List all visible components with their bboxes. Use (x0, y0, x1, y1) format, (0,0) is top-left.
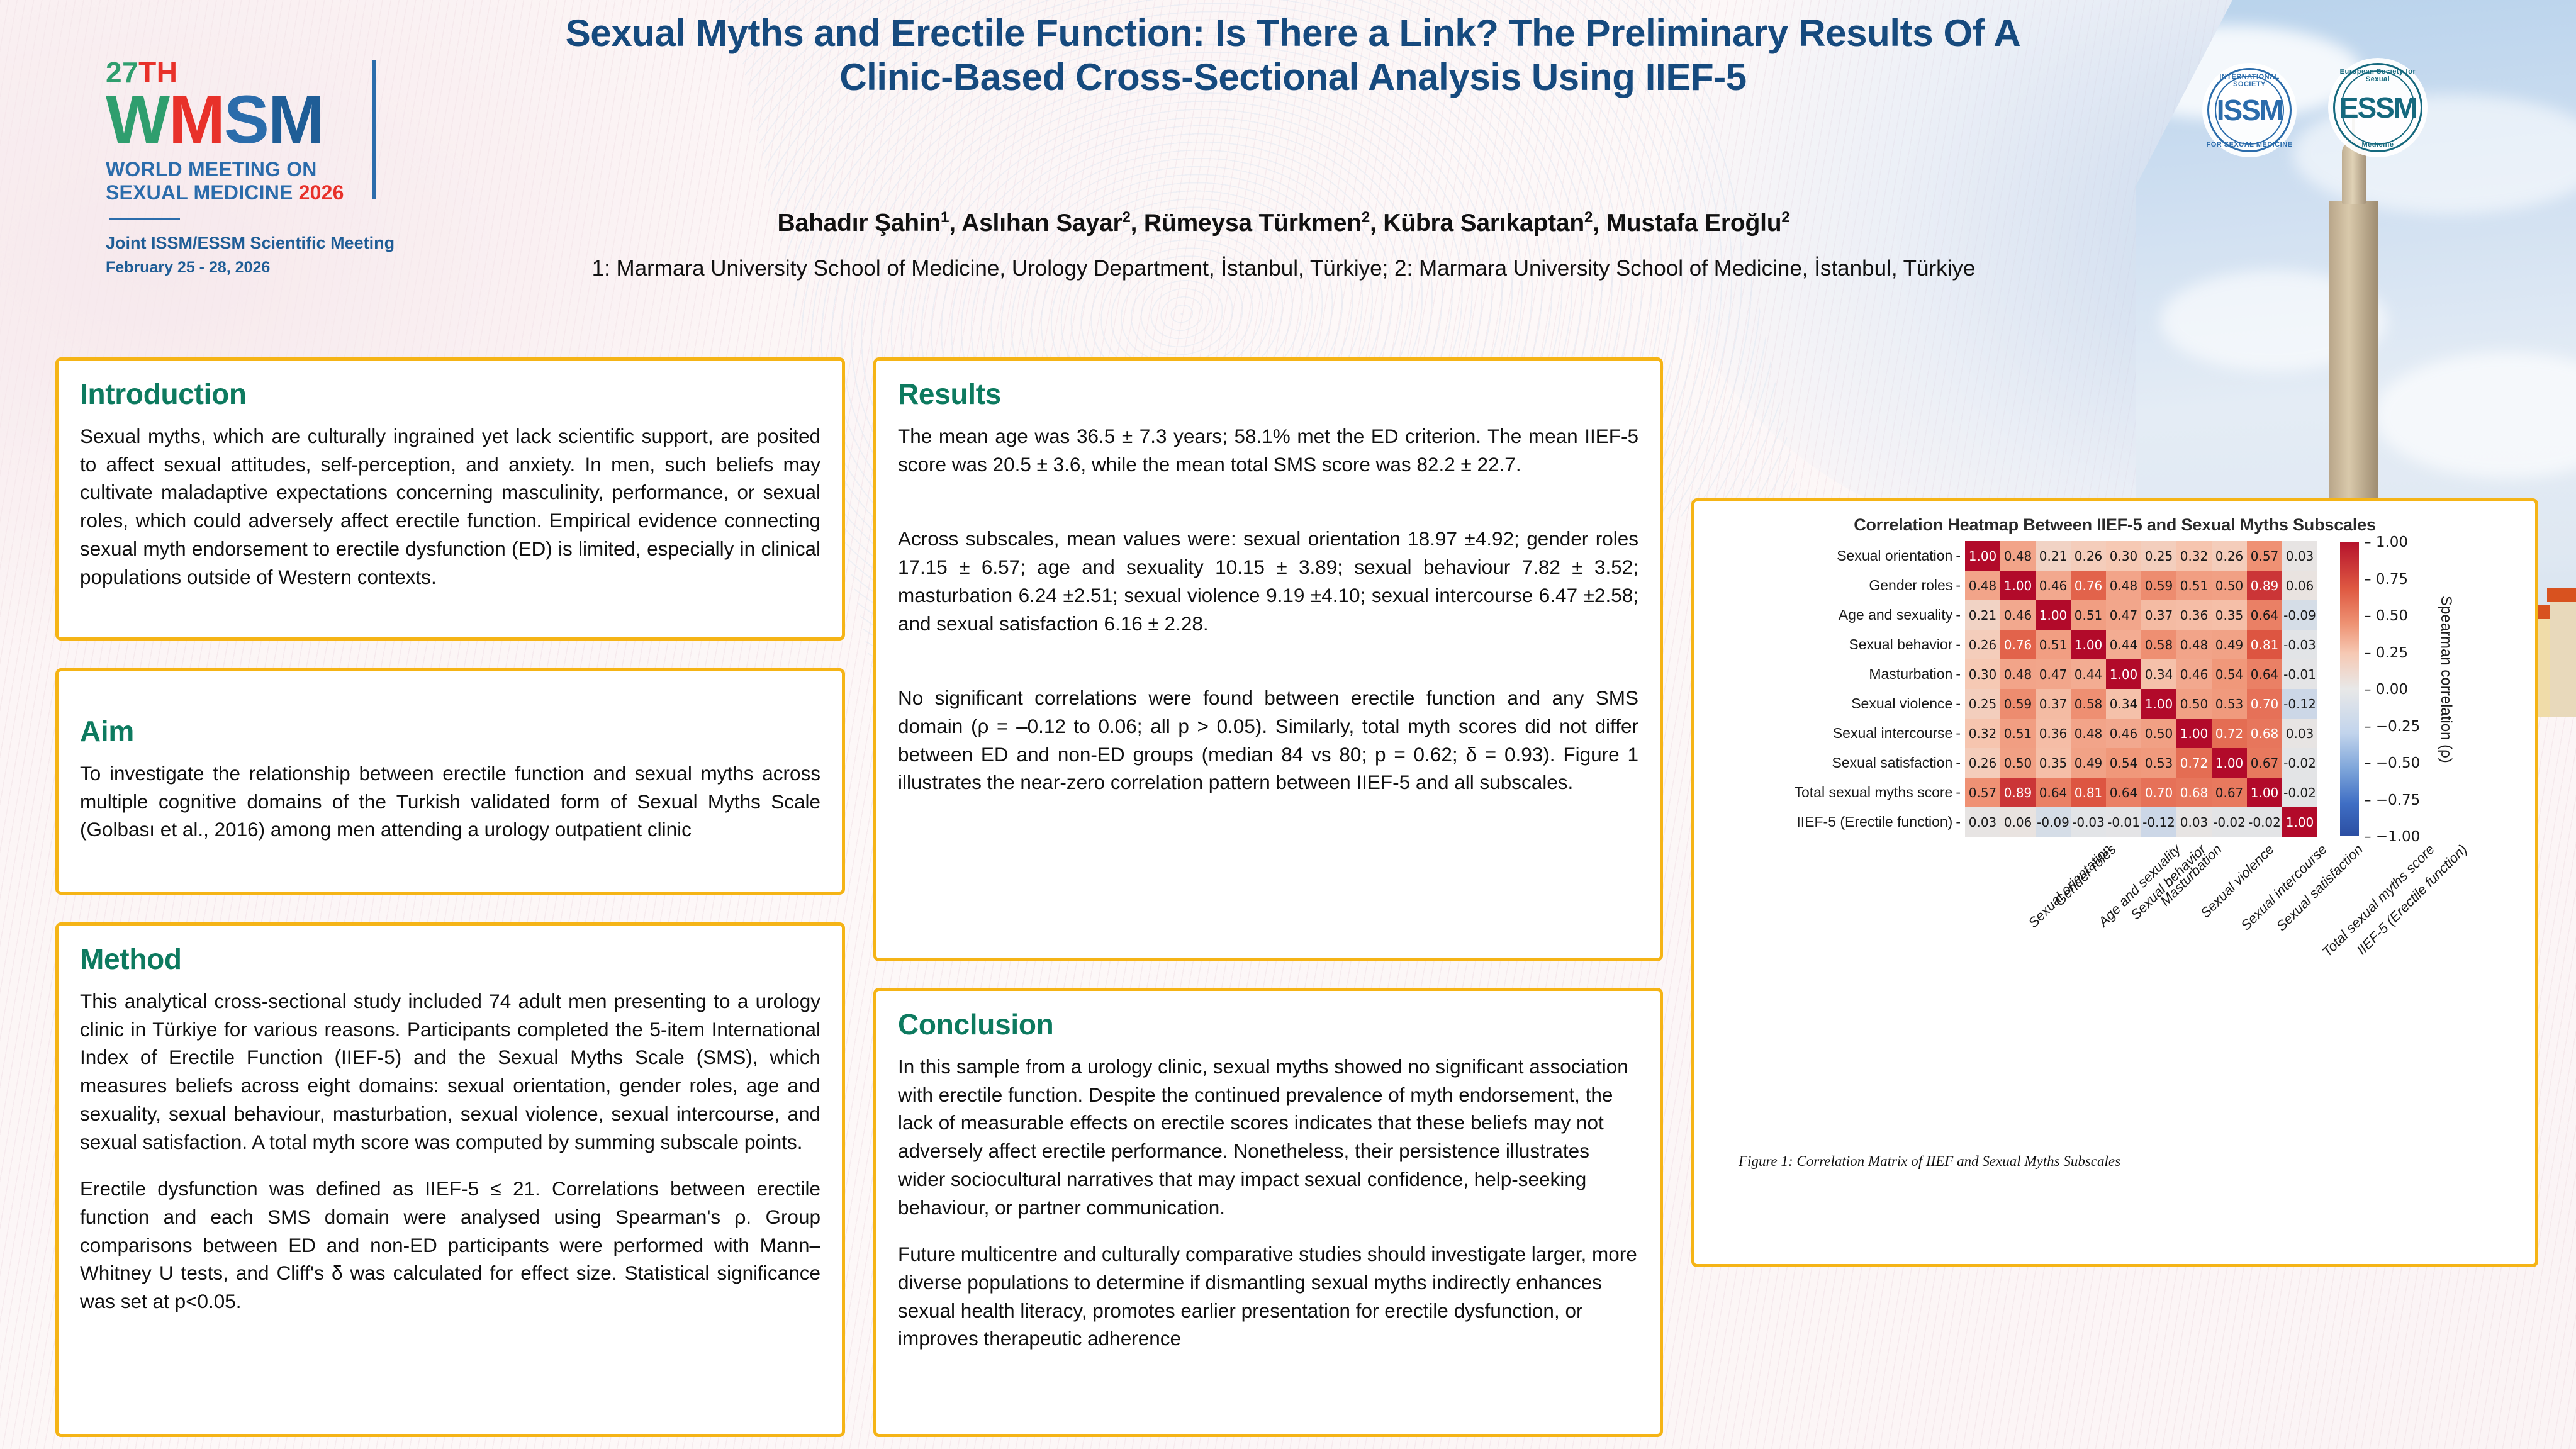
heatmap-cell: 0.35 (2036, 748, 2071, 778)
issm-arc-top-text: INTERNATIONAL SOCIETY (2202, 73, 2297, 88)
heatmap-cell: 0.48 (2000, 659, 2036, 689)
heatmap-cell: 0.48 (1965, 571, 2000, 600)
heatmap-cell: 0.51 (2000, 719, 2036, 748)
heatmap-cell: 0.21 (2036, 541, 2071, 571)
colorbar-tick: 1.00 (2364, 534, 2408, 551)
heatmap-cell: 0.36 (2036, 719, 2071, 748)
heatmap-cell: 0.03 (2282, 541, 2317, 571)
colorbar-tick: 0.25 (2364, 645, 2408, 661)
colorbar-tick: −1.00 (2364, 829, 2420, 845)
heatmap-cell: 0.46 (2000, 600, 2036, 630)
heatmap-cell: -0.09 (2282, 600, 2317, 630)
heatmap-cell: 0.48 (2176, 630, 2212, 659)
conclusion-paragraph-2: Future multicentre and culturally compar… (898, 1240, 1638, 1353)
issm-monogram: ISSM (2217, 93, 2282, 127)
logo-divider-rule (109, 218, 180, 220)
affiliations: 1: Marmara University School of Medicine… (503, 254, 2064, 284)
heatmap-cell: 0.06 (2000, 807, 2036, 837)
heatmap-cell: 0.03 (2282, 719, 2317, 748)
heatmap-cell: 1.00 (2000, 571, 2036, 600)
heatmap-cell: 0.89 (2000, 778, 2036, 807)
results-paragraph-3: No significant correlations were found b… (898, 684, 1638, 797)
heatmap-cell: 0.72 (2176, 748, 2212, 778)
colorbar-tick: −0.75 (2364, 792, 2420, 808)
heatmap-cell: 0.50 (2141, 719, 2176, 748)
heatmap-cell: 0.59 (2141, 571, 2176, 600)
heatmap-cell: 0.34 (2141, 659, 2176, 689)
heatmap-cell: 1.00 (2282, 807, 2317, 837)
colorbar-tick: −0.25 (2364, 719, 2420, 735)
colorbar-tick: 0.00 (2364, 681, 2408, 698)
heatmap-cell: 0.89 (2247, 571, 2282, 600)
heatmap-cell: -0.03 (2282, 630, 2317, 659)
heatmap-cell: 0.26 (1965, 748, 2000, 778)
colorbar-tick: 0.75 (2364, 571, 2408, 588)
logo-acronym: WMSM (106, 88, 458, 150)
heatmap-cell: 0.67 (2247, 748, 2282, 778)
heatmap-cell: 0.06 (2282, 571, 2317, 600)
heatmap-cell: 0.58 (2071, 689, 2106, 719)
heatmap-row-label: Sexual satisfaction (1729, 748, 1961, 778)
poster-canvas: 27TH WMSM WORLD MEETING ON SEXUAL MEDICI… (0, 0, 2576, 1449)
colorbar-tick-labels: 1.000.750.500.250.00−0.25−0.50−0.75−1.00 (2364, 533, 2439, 848)
heatmap-cell: -0.09 (2036, 807, 2071, 837)
heatmap-cell: 0.64 (2036, 778, 2071, 807)
heatmap-cell: 1.00 (2036, 600, 2071, 630)
heatmap-cell: -0.12 (2282, 689, 2317, 719)
heatmap-cell: 0.48 (2106, 571, 2141, 600)
section-results: Results The mean age was 36.5 ± 7.3 year… (873, 357, 1663, 961)
heatmap-cell: 0.03 (1965, 807, 2000, 837)
aim-heading: Aim (80, 714, 820, 748)
heatmap-cell: 0.46 (2036, 571, 2071, 600)
section-method: Method This analytical cross-sectional s… (55, 922, 845, 1437)
heatmap-cell: 0.48 (2071, 719, 2106, 748)
heatmap-cell: 0.53 (2141, 748, 2176, 778)
heatmap-cell: -0.03 (2071, 807, 2106, 837)
heatmap-cell: 0.50 (2000, 748, 2036, 778)
heatmap-cell: 0.51 (2176, 571, 2212, 600)
heatmap-cell: 0.26 (1965, 630, 2000, 659)
logo-vertical-rule (372, 60, 376, 199)
heatmap-cell: 0.32 (2176, 541, 2212, 571)
heatmap-cell: 1.00 (1965, 541, 2000, 571)
heatmap-cell: 0.44 (2071, 659, 2106, 689)
heatmap-row-label: Age and sexuality (1729, 600, 1961, 630)
heatmap-cell: 0.46 (2106, 719, 2141, 748)
method-paragraph-2: Erectile dysfunction was defined as IIEF… (80, 1175, 820, 1316)
heatmap-column-label: Gender roles (2051, 841, 2119, 909)
heatmap-cell: 0.26 (2212, 541, 2247, 571)
heatmap-row-label: Gender roles (1729, 571, 1961, 600)
heatmap-cell: 0.81 (2247, 630, 2282, 659)
heatmap-cell: 0.26 (2071, 541, 2106, 571)
heatmap-column-labels: Sexual orientationGender rolesAge and se… (1965, 841, 2317, 1030)
conclusion-paragraph-1: In this sample from a urology clinic, se… (898, 1053, 1638, 1221)
heatmap-cell: -0.02 (2247, 807, 2282, 837)
figure-caption: Figure 1: Correlation Matrix of IIEF and… (1739, 1153, 2120, 1170)
heatmap-cell: 1.00 (2247, 778, 2282, 807)
heatmap-cell: 0.47 (2036, 659, 2071, 689)
heatmap-cell: -0.02 (2282, 748, 2317, 778)
colorbar-tick: −0.50 (2364, 755, 2420, 771)
issm-arc-bottom-text: FOR SEXUAL MEDICINE (2202, 141, 2297, 148)
heatmap-row-label: Sexual violence (1729, 689, 1961, 719)
heatmap-cell: 0.49 (2212, 630, 2247, 659)
heatmap-cell: 0.34 (2106, 689, 2141, 719)
heatmap-cell: -0.02 (2282, 778, 2317, 807)
heatmap-cell: 0.36 (2176, 600, 2212, 630)
heatmap-cell: 0.50 (2176, 689, 2212, 719)
results-heading: Results (898, 377, 1638, 411)
logo-subtitle-line2: SEXUAL MEDICINE 2026 (106, 181, 458, 204)
heatmap-cell: 0.57 (2247, 541, 2282, 571)
results-paragraph-2: Across subscales, mean values were: sexu… (898, 525, 1638, 637)
heatmap-row-label: Total sexual myths score (1729, 778, 1961, 807)
section-aim: Aim To investigate the relationship betw… (55, 668, 845, 895)
section-conclusion: Conclusion In this sample from a urology… (873, 988, 1663, 1437)
heatmap-cell: 0.44 (2106, 630, 2141, 659)
introduction-heading: Introduction (80, 377, 820, 411)
wmsm-logo: 27TH WMSM WORLD MEETING ON SEXUAL MEDICI… (106, 58, 458, 277)
heatmap-cell: -0.01 (2106, 807, 2141, 837)
heatmap-cell: 1.00 (2141, 689, 2176, 719)
heatmap-row-labels: Sexual orientationGender rolesAge and se… (1729, 541, 1961, 837)
aim-body: To investigate the relationship between … (80, 759, 820, 844)
heatmap-cell: 0.03 (2176, 807, 2212, 837)
conclusion-heading: Conclusion (898, 1007, 1638, 1041)
heatmap-cell: 0.76 (2071, 571, 2106, 600)
heatmap-cell: 0.32 (1965, 719, 2000, 748)
essm-arc-top-text: European Society for Sexual (2328, 68, 2428, 83)
heatmap-title: Correlation Heatmap Between IIEF-5 and S… (1694, 515, 2535, 535)
section-introduction: Introduction Sexual myths, which are cul… (55, 357, 845, 641)
results-paragraph-1: The mean age was 36.5 ± 7.3 years; 58.1%… (898, 422, 1638, 478)
essm-monogram: ESSM (2339, 91, 2416, 125)
heatmap-cell: -0.01 (2282, 659, 2317, 689)
poster-title: Sexual Myths and Erectile Function: Is T… (510, 11, 2076, 99)
heatmap-cell: 0.47 (2106, 600, 2141, 630)
heatmap-row-label: Sexual behavior (1729, 630, 1961, 659)
heatmap-row-label: IIEF-5 (Erectile function) (1729, 807, 1961, 837)
heatmap-cell: 0.35 (2212, 600, 2247, 630)
method-heading: Method (80, 942, 820, 976)
logo-joint-meeting: Joint ISSM/ESSM Scientific Meeting (106, 230, 458, 256)
heatmap-cell: 0.68 (2247, 719, 2282, 748)
heatmap-cell: 1.00 (2212, 748, 2247, 778)
heatmap-cell: 0.46 (2176, 659, 2212, 689)
heatmap-grid: 1.000.480.210.260.300.250.320.260.570.03… (1965, 541, 2317, 837)
heatmap-cell: 0.53 (2212, 689, 2247, 719)
heatmap-cell: 0.70 (2247, 689, 2282, 719)
heatmap-cell: 0.59 (2000, 689, 2036, 719)
heatmap-cell: 0.64 (2106, 778, 2141, 807)
heatmap-cell: 0.58 (2141, 630, 2176, 659)
heatmap-cell: 0.76 (2000, 630, 2036, 659)
author-list: Bahadır Şahin1, Aslıhan Sayar2, Rümeysa … (478, 209, 2089, 237)
heatmap-cell: 0.37 (2141, 600, 2176, 630)
logo-subtitle-line1: WORLD MEETING ON (106, 158, 458, 181)
heatmap-cell: 0.64 (2247, 659, 2282, 689)
heatmap-cell: 0.72 (2212, 719, 2247, 748)
heatmap-cell: 0.67 (2212, 778, 2247, 807)
heatmap-cell: 0.51 (2071, 600, 2106, 630)
heatmap-cell: 0.54 (2106, 748, 2141, 778)
heatmap-cell: 0.68 (2176, 778, 2212, 807)
heatmap-cell: 0.54 (2212, 659, 2247, 689)
logo-dates: February 25 - 28, 2026 (106, 259, 458, 277)
heatmap-cell: 0.25 (1965, 689, 2000, 719)
heatmap-cell: 0.49 (2071, 748, 2106, 778)
colorbar-axis-label: Spearman correlation (ρ) (2437, 596, 2455, 763)
heatmap-cell: 1.00 (2071, 630, 2106, 659)
issm-seal-logo: INTERNATIONAL SOCIETY ISSM FOR SEXUAL ME… (2202, 63, 2297, 157)
method-paragraph-1: This analytical cross-sectional study in… (80, 987, 820, 1156)
heatmap-cell: 0.57 (1965, 778, 2000, 807)
heatmap-cell: 0.30 (1965, 659, 2000, 689)
heatmap-cell: 0.70 (2141, 778, 2176, 807)
heatmap-cell: -0.12 (2141, 807, 2176, 837)
heatmap-cell: 1.00 (2106, 659, 2141, 689)
heatmap-cell: 1.00 (2176, 719, 2212, 748)
heatmap-cell: 0.30 (2106, 541, 2141, 571)
essm-seal-logo: European Society for Sexual ESSM Medicin… (2328, 58, 2428, 157)
heatmap-cell: 0.21 (1965, 600, 2000, 630)
heatmap-row-label: Sexual intercourse (1729, 719, 1961, 748)
heatmap-cell: 0.48 (2000, 541, 2036, 571)
heatmap-colorbar (2340, 542, 2359, 836)
heatmap-row-label: Sexual orientation (1729, 541, 1961, 571)
heatmap-row-label: Masturbation (1729, 659, 1961, 689)
essm-arc-bottom-text: Medicine (2328, 141, 2428, 148)
heatmap-cell: 0.81 (2071, 778, 2106, 807)
heatmap-cell: 0.50 (2212, 571, 2247, 600)
introduction-body: Sexual myths, which are culturally ingra… (80, 422, 820, 591)
heatmap-cell: 0.64 (2247, 600, 2282, 630)
heatmap-cell: 0.51 (2036, 630, 2071, 659)
heatmap-cell: -0.02 (2212, 807, 2247, 837)
section-figure: Correlation Heatmap Between IIEF-5 and S… (1691, 498, 2538, 1267)
heatmap-cell: 0.37 (2036, 689, 2071, 719)
colorbar-tick: 0.50 (2364, 608, 2408, 624)
heatmap-cell: 0.25 (2141, 541, 2176, 571)
